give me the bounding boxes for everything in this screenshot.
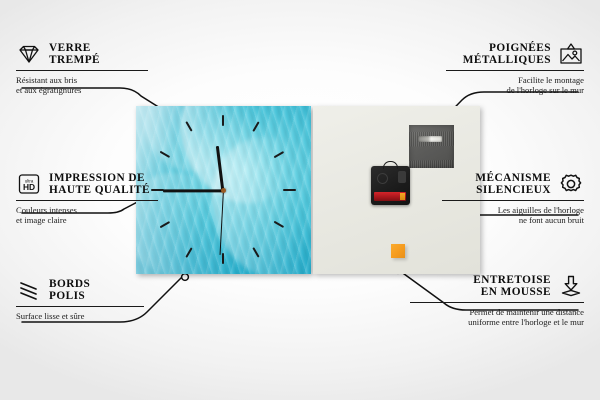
battery [374,192,406,201]
clock-center-pin [221,188,226,193]
callout-desc-line: uniforme entre l'horloge et le mur [410,317,584,327]
polished-edges-icon [16,278,42,302]
callout-header: MÉCANISME SILENCIEUX [442,172,584,197]
callout-divider [16,306,144,307]
callout-desc-line: Couleurs intenses [16,205,158,215]
clock-minute-hand [163,189,223,192]
callout-header: BORDS POLIS [16,278,144,303]
callout-desc-line: Surface lisse et sûre [16,311,144,321]
callout-entretoise-en-mousse: ENTRETOISE EN MOUSSE Permet de maintenir… [410,274,584,328]
picture-hanger-icon [558,42,584,66]
callout-header: ultra HD IMPRESSION DE HAUTE QUALITÉ [16,172,158,197]
callout-desc-line: Permet de maintenir une distance [410,307,584,317]
callout-title: ENTRETOISE EN MOUSSE [473,274,551,299]
svg-text:HD: HD [23,183,35,193]
foam-spacer [391,244,405,258]
callout-title: BORDS POLIS [49,278,90,303]
callout-header: POIGNÉES MÉTALLIQUES [446,42,584,67]
diamond-icon [16,42,42,66]
ultra-hd-badge-icon: ultra HD [16,172,42,196]
callout-divider [446,70,584,71]
callout-header: VERRE TREMPÉ [16,42,148,67]
clock-front-panel [136,106,311,274]
metal-hanger-plate [409,125,454,168]
callout-header: ENTRETOISE EN MOUSSE [410,274,584,299]
callout-divider [16,200,158,201]
callout-desc-line: Résistant aux bris [16,75,148,85]
callout-divider [16,70,148,71]
callout-bords-polis: BORDS POLIS Surface lisse et sûre [16,278,144,321]
hanger-slot [418,136,442,142]
callout-desc-line: et image claire [16,215,158,225]
clock-tick [283,189,296,191]
product-image [136,106,480,274]
callout-impression-hd: ultra HD IMPRESSION DE HAUTE QUALITÉ Cou… [16,172,158,226]
infographic-stage: VERRE TREMPÉ Résistant aux bris et aux é… [0,0,600,400]
callout-desc-line: Les aiguilles de l'horloge [442,205,584,215]
callout-title: IMPRESSION DE HAUTE QUALITÉ [49,172,150,197]
callout-desc-line: Facilite le montage [446,75,584,85]
callout-title: MÉCANISME SILENCIEUX [475,172,551,197]
callout-mecanisme-silencieux: MÉCANISME SILENCIEUX Les aiguilles de l'… [442,172,584,226]
callout-verre-trempe: VERRE TREMPÉ Résistant aux bris et aux é… [16,42,148,96]
clock-mechanism [371,166,410,205]
callout-title: POIGNÉES MÉTALLIQUES [463,42,551,67]
mechanism-shaft [377,173,388,184]
connector-dot-bords-polis [182,274,189,281]
gear-icon [558,172,584,196]
mechanism-dial [398,171,406,183]
clock-tick [222,115,224,126]
callout-divider [442,200,584,201]
callout-desc-line: ne font aucun bruit [442,215,584,225]
callout-poignees-metalliques: POIGNÉES MÉTALLIQUES Facilite le montage… [446,42,584,96]
callout-desc-line: de l'horloge sur le mur [446,85,584,95]
callout-title: VERRE TREMPÉ [49,42,100,67]
callout-desc-line: et aux égratignures [16,85,148,95]
mechanism-hook [383,161,398,169]
clock-tick [222,253,224,264]
spacer-arrow-icon [558,274,584,298]
callout-divider [410,302,584,303]
